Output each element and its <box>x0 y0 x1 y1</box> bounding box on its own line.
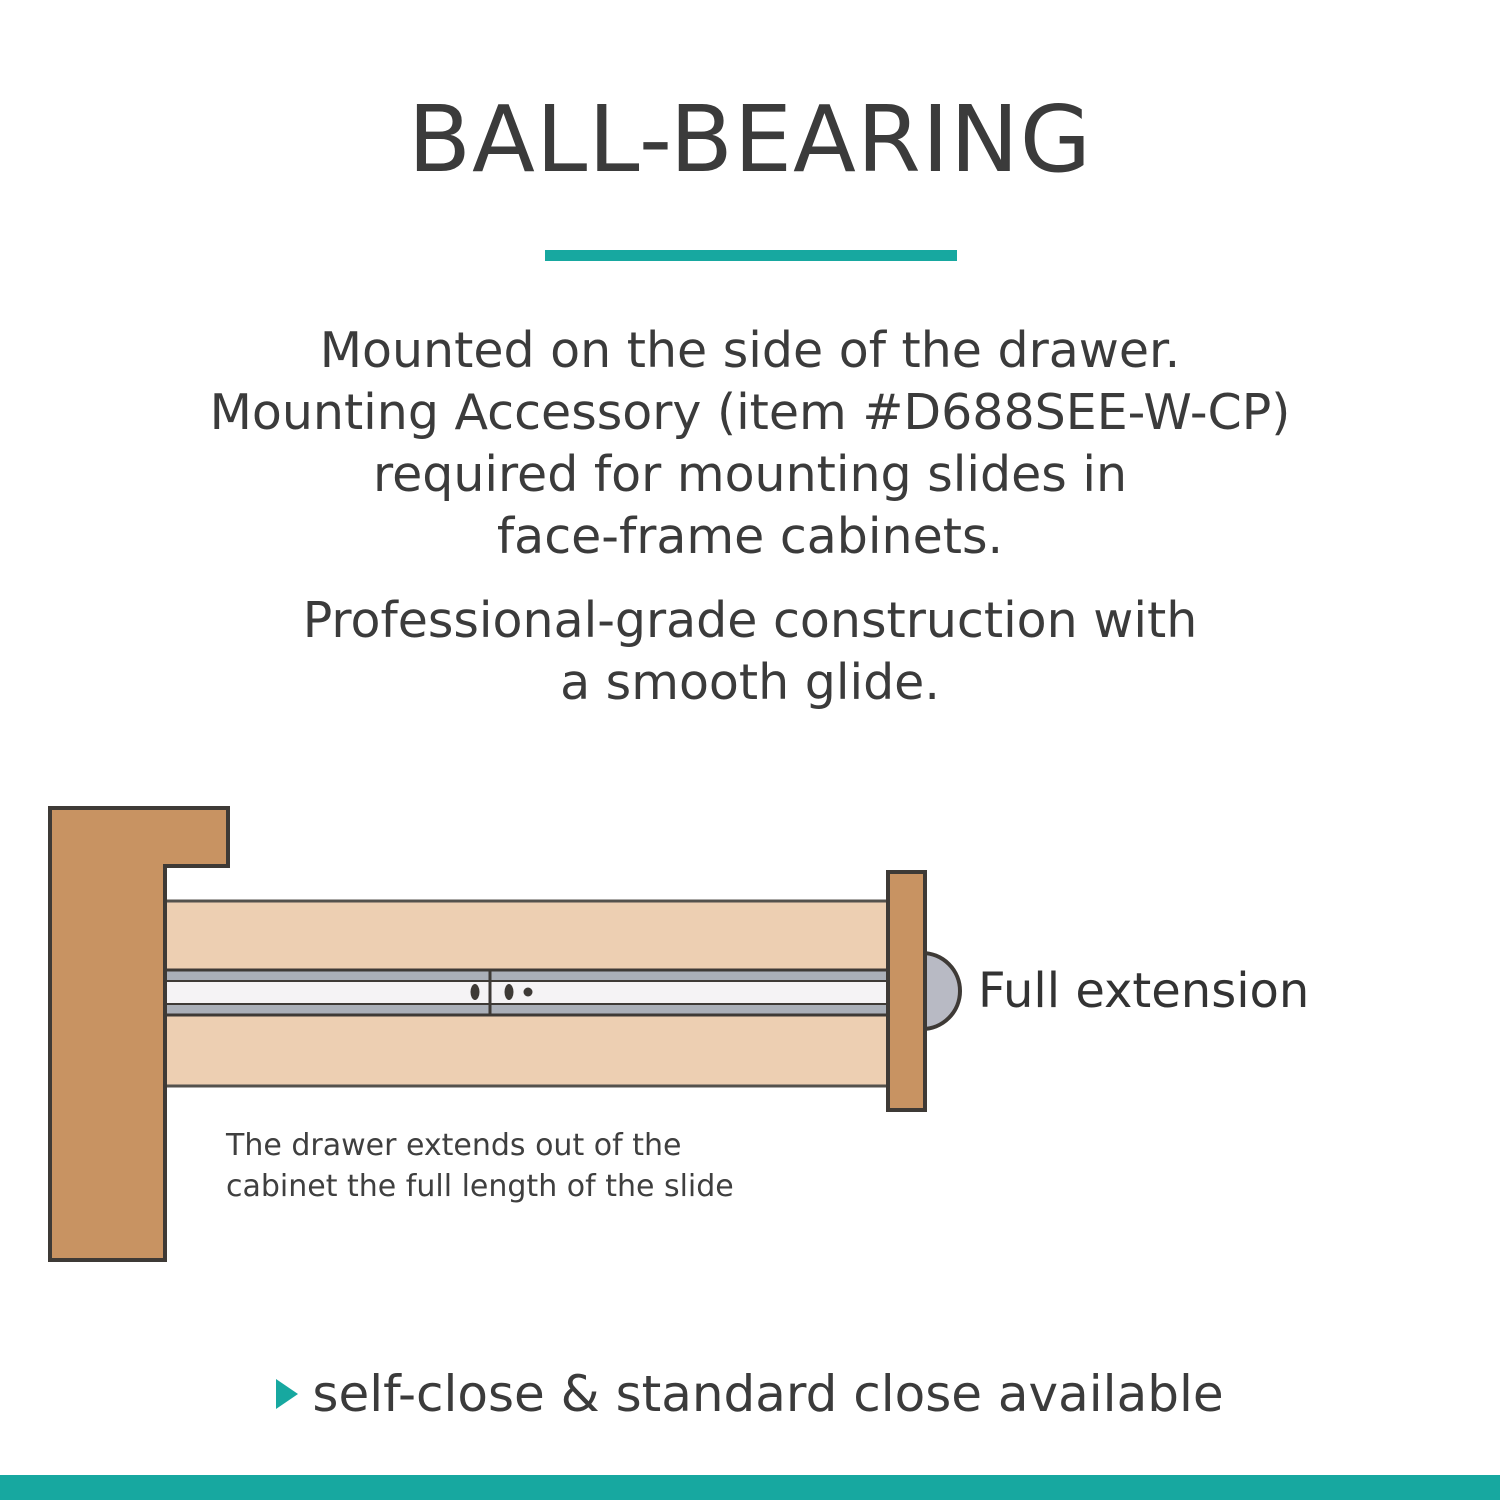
drawer-front-panel <box>888 872 925 1110</box>
title-divider <box>545 250 957 261</box>
diagram-caption-line-1: The drawer extends out of the <box>226 1125 946 1166</box>
triangle-right-icon <box>276 1379 298 1409</box>
description-line-3: required for mounting slides in <box>0 444 1500 506</box>
drawer-knob <box>922 953 960 1029</box>
drawer-box-lower-wall <box>165 1013 889 1086</box>
diagram-caption: The drawer extends out of the cabinet th… <box>226 1125 946 1207</box>
footer-bullet-row: self-close & standard close available <box>0 1365 1500 1423</box>
drawer-slide-diagram <box>0 770 1500 1330</box>
footer-accent-bar <box>0 1475 1500 1500</box>
description-line-5: Professional-grade construction with <box>0 590 1500 652</box>
slide-screw-hole-mid <box>505 984 514 1000</box>
footer-bullet-label: self-close & standard close available <box>312 1365 1223 1423</box>
description-paragraph-1: Mounted on the side of the drawer. Mount… <box>0 320 1500 568</box>
description-paragraph-2: Professional-grade construction with a s… <box>0 590 1500 714</box>
description-line-1: Mounted on the side of the drawer. <box>0 320 1500 382</box>
slide-screw-hole-left <box>471 984 480 1000</box>
diagram-caption-line-2: cabinet the full length of the slide <box>226 1166 946 1207</box>
full-extension-label: Full extension <box>978 963 1309 1019</box>
description-line-6: a smooth glide. <box>0 652 1500 714</box>
product-feature-page: BALL-BEARING Mounted on the side of the … <box>0 0 1500 1500</box>
slide-detent-dot <box>524 988 533 997</box>
drawer-box-upper-wall <box>165 901 889 972</box>
description-line-2: Mounting Accessory (item #D688SEE-W-CP) <box>0 382 1500 444</box>
description-line-4: face-frame cabinets. <box>0 506 1500 568</box>
page-title: BALL-BEARING <box>0 92 1500 189</box>
